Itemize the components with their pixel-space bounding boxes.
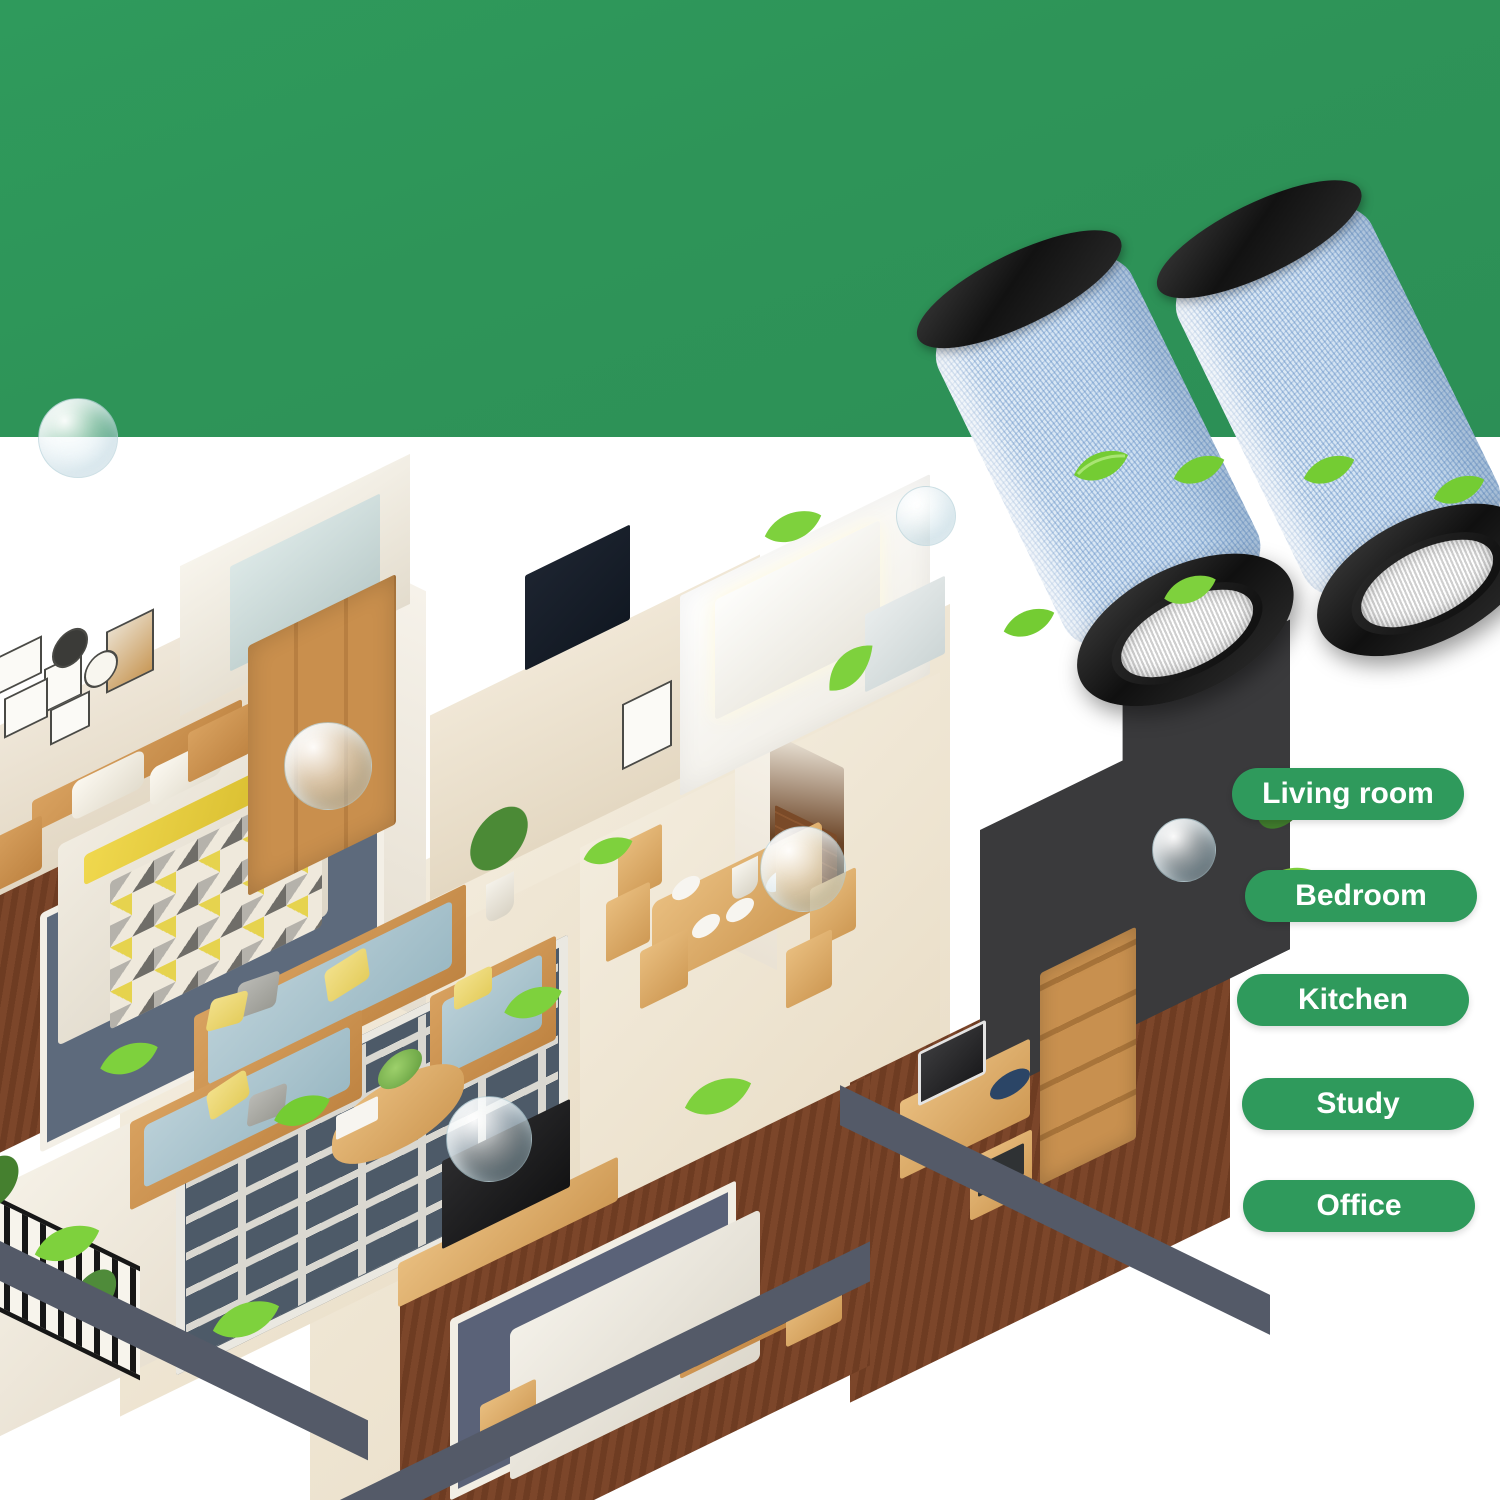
room-label-living-room[interactable]: Living room: [1232, 768, 1464, 820]
leaf-icon: [760, 505, 826, 551]
leaf-icon: [1160, 570, 1220, 612]
leaf-icon: [96, 1036, 162, 1084]
room-label-office[interactable]: Office: [1243, 1180, 1475, 1232]
air-bubble: [446, 1096, 532, 1182]
filter-product-group: [985, 190, 1500, 720]
air-bubble: [38, 398, 118, 478]
air-bubble: [760, 826, 846, 912]
leaf-icon: [30, 1218, 104, 1272]
room-label-text: Bedroom: [1295, 879, 1427, 913]
leaf-icon: [1170, 450, 1228, 492]
leaf-icon: [208, 1292, 284, 1350]
room-label-text: Study: [1316, 1087, 1399, 1121]
air-bubble: [284, 722, 372, 810]
leaf-icon: [580, 830, 636, 874]
leaf-icon: [270, 1088, 334, 1136]
leaf-icon: [822, 640, 880, 698]
leaf-icon: [1000, 600, 1058, 648]
room-label-text: Kitchen: [1298, 983, 1408, 1017]
leaf-icon: [500, 980, 566, 1028]
air-bubble: [896, 486, 956, 546]
leaf-icon: [680, 1070, 756, 1126]
room-label-study[interactable]: Study: [1242, 1078, 1474, 1130]
product-marketing-image: CUSTOMIZE TO YOUR HOME ENVIRONMENT Wheth…: [0, 0, 1500, 1500]
leaf-icon: [1430, 470, 1488, 512]
room-label-kitchen[interactable]: Kitchen: [1237, 974, 1469, 1026]
room-label-text: Living room: [1262, 777, 1434, 811]
leaf-icon: [1070, 445, 1132, 489]
room-label-bedroom[interactable]: Bedroom: [1245, 870, 1477, 922]
air-bubble: [1152, 818, 1216, 882]
leaf-icon: [1300, 450, 1358, 492]
room-label-text: Office: [1316, 1189, 1401, 1223]
